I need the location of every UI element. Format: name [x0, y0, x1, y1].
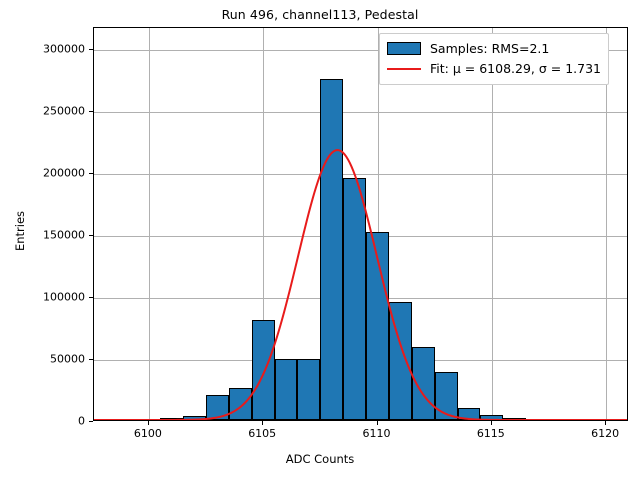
x-tick-label: 6105 [248, 427, 276, 440]
legend-label-fit: Fit: μ = 6108.29, σ = 1.731 [430, 61, 601, 76]
fit-curve-layer [94, 28, 627, 420]
x-tick-mark [491, 421, 492, 425]
chart-legend: Samples: RMS=2.1 Fit: μ = 6108.29, σ = 1… [379, 33, 609, 85]
y-tick-mark [89, 111, 93, 112]
y-tick-label: 50000 [0, 353, 85, 366]
x-tick-mark [377, 421, 378, 425]
legend-label-samples: Samples: RMS=2.1 [430, 41, 549, 56]
x-tick-mark [148, 421, 149, 425]
histogram-figure: Run 496, channel113, Pedestal 6100610561… [0, 0, 640, 480]
gaussian-fit-curve [94, 150, 627, 420]
y-tick-label: 0 [0, 415, 85, 428]
y-tick-mark [89, 359, 93, 360]
y-tick-mark [89, 297, 93, 298]
legend-line-icon [387, 62, 421, 75]
y-tick-mark [89, 421, 93, 422]
x-tick-label: 6100 [134, 427, 162, 440]
y-tick-mark [89, 235, 93, 236]
x-tick-label: 6110 [363, 427, 391, 440]
y-tick-label: 250000 [0, 105, 85, 118]
legend-item-fit: Fit: μ = 6108.29, σ = 1.731 [387, 59, 601, 78]
plot-area [93, 27, 628, 421]
x-axis-label: ADC Counts [0, 452, 640, 466]
x-tick-label: 6115 [477, 427, 505, 440]
x-tick-mark [605, 421, 606, 425]
y-tick-mark [89, 173, 93, 174]
y-axis-label: Entries [13, 131, 27, 331]
page-title: Run 496, channel113, Pedestal [0, 7, 640, 22]
y-tick-label: 300000 [0, 43, 85, 56]
x-tick-label: 6120 [591, 427, 619, 440]
x-tick-mark [262, 421, 263, 425]
legend-item-samples: Samples: RMS=2.1 [387, 39, 601, 58]
y-tick-mark [89, 49, 93, 50]
legend-patch-icon [387, 42, 421, 55]
